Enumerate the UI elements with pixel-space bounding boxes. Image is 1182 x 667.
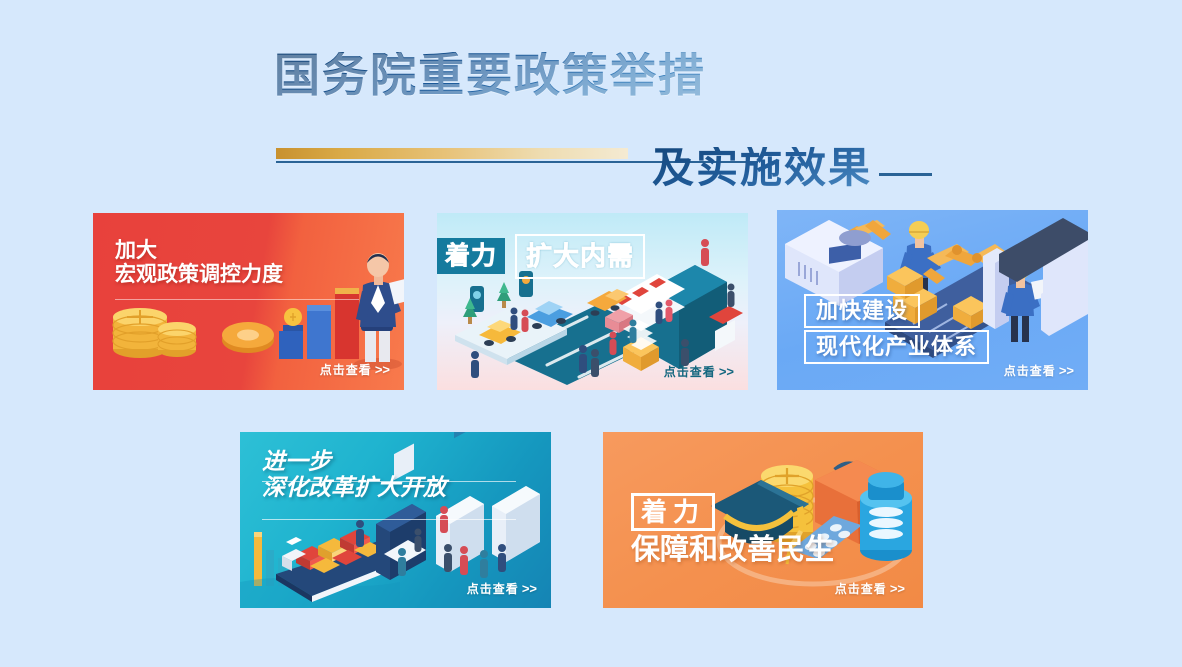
card-cta[interactable]: 点击查看>> bbox=[835, 580, 905, 597]
page-title-line-1: 国务院重要政策举措 bbox=[274, 52, 706, 100]
card-title-line-1: 加快建设 bbox=[816, 298, 908, 323]
card-title-highlight: 着力 bbox=[437, 238, 505, 274]
card-title-line-2: 宏观政策调控力度 bbox=[115, 263, 283, 287]
card-cta-label: 点击查看 bbox=[664, 365, 716, 379]
card-cta-label: 点击查看 bbox=[1004, 364, 1056, 378]
policy-card-reform-opening[interactable]: 进一步 深化改革扩大开放 点击查看>> bbox=[240, 432, 551, 608]
card-title-line-1: 进一步 bbox=[262, 448, 446, 474]
card-cta[interactable]: 点击查看>> bbox=[1004, 362, 1074, 379]
chevron-right-icon: >> bbox=[719, 364, 734, 379]
card-cta[interactable]: 点击查看>> bbox=[664, 363, 734, 380]
card-title-line-2: 深化改革扩大开放 bbox=[262, 474, 446, 500]
chevron-right-icon: >> bbox=[375, 362, 390, 377]
chevron-right-icon: >> bbox=[890, 581, 905, 596]
card-title-line-2: 保障和改善民生 bbox=[631, 534, 834, 566]
page-root: 国务院重要政策举措 及实施效果 bbox=[0, 0, 1182, 667]
chevron-right-icon: >> bbox=[522, 581, 537, 596]
card-title-line-2-wrap: 保障和改善民生 bbox=[631, 534, 834, 567]
page-title-line-2: 及实施效果 bbox=[652, 147, 872, 191]
chevron-right-icon: >> bbox=[1059, 363, 1074, 378]
card-title-line-2: 扩大内需 bbox=[526, 241, 634, 271]
card-title-divider-bottom bbox=[262, 519, 516, 520]
card-cta[interactable]: 点击查看>> bbox=[467, 580, 537, 597]
card-title-divider-top bbox=[262, 481, 516, 482]
card-title-line-1: 着力 bbox=[445, 242, 497, 270]
policy-card-expand-demand[interactable]: 着力 扩大内需 点击查看>> bbox=[437, 213, 748, 390]
card-title: 进一步 深化改革扩大开放 bbox=[262, 448, 446, 500]
card-cta-label: 点击查看 bbox=[320, 363, 372, 377]
policy-card-modern-industry[interactable]: 加快建设 现代化产业体系 点击查看>> bbox=[777, 210, 1088, 390]
card-title-outline-box: 着力 bbox=[631, 493, 715, 531]
page-header: 国务院重要政策举措 及实施效果 bbox=[0, 52, 1182, 162]
policy-card-livelihood[interactable]: 着力 保障和改善民生 点击查看>> bbox=[603, 432, 923, 608]
card-title-box-2: 现代化产业体系 bbox=[804, 330, 989, 364]
card-cta-label: 点击查看 bbox=[835, 582, 887, 596]
gold-accent-bar bbox=[276, 148, 628, 159]
card-title-line-1: 着力 bbox=[641, 497, 705, 527]
card-title-outline-box: 扩大内需 bbox=[515, 234, 645, 279]
card-title-box-1: 加快建设 bbox=[804, 294, 920, 328]
card-title-line-1: 加大 bbox=[115, 239, 283, 263]
card-cta[interactable]: 点击查看>> bbox=[320, 361, 390, 378]
header-rule-secondary bbox=[879, 173, 932, 176]
card-cta-label: 点击查看 bbox=[467, 582, 519, 596]
card-title-line-2: 现代化产业体系 bbox=[816, 334, 977, 359]
card-title-divider bbox=[115, 299, 359, 300]
card-title: 加大 宏观政策调控力度 bbox=[115, 239, 283, 287]
policy-card-macro-regulation[interactable]: 加大 宏观政策调控力度 点击查看>> bbox=[93, 213, 404, 390]
